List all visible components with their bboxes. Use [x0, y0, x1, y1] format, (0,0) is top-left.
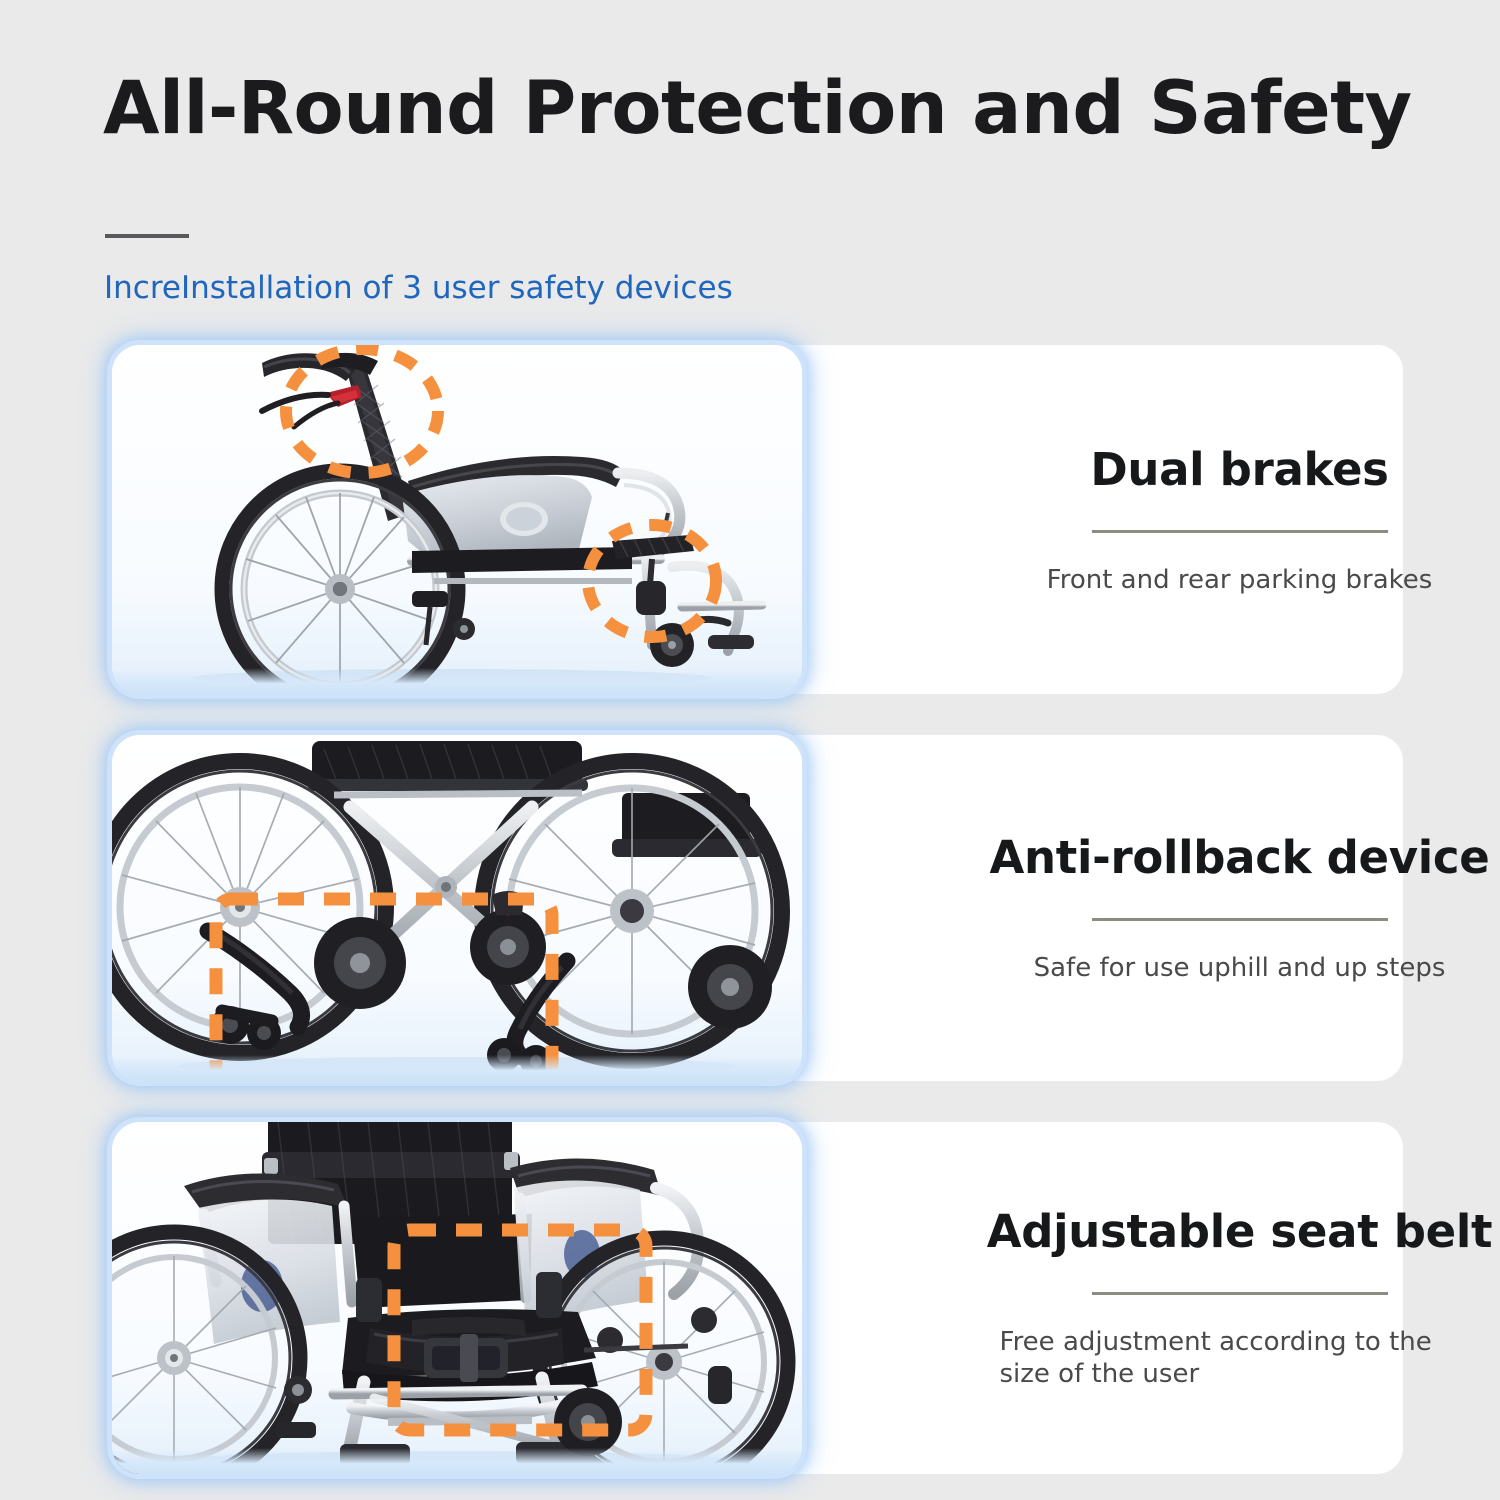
card-divider	[1092, 918, 1388, 921]
page-subtitle: IncreInstallation of 3 user safety devic…	[104, 270, 733, 306]
card-heading: Dual brakes	[1090, 443, 1388, 496]
card-description: Safe for use uphill and up steps	[1034, 953, 1446, 985]
wheelchair-wheels-closeup-illustration	[112, 735, 802, 1081]
feature-image-anti-rollback-device	[112, 735, 802, 1081]
card-divider	[1092, 530, 1388, 533]
card-text-block: Dual brakes Front and rear parking brake…	[939, 345, 1500, 694]
card-heading: Adjustable seat belt	[987, 1205, 1493, 1258]
infographic-page: All-Round Protection and Safety IncreIns…	[0, 0, 1500, 1500]
card-divider	[1092, 1292, 1388, 1295]
feature-image-dual-brakes	[112, 345, 802, 694]
card-text-block: Adjustable seat belt Free adjustment acc…	[939, 1122, 1500, 1474]
panel-floor-gradient	[112, 1448, 802, 1474]
panel-floor-gradient	[112, 668, 802, 694]
panel-floor-gradient	[112, 1055, 802, 1081]
wheelchair-front-view-illustration	[112, 1122, 802, 1474]
card-description: Free adjustment according to the size of…	[1000, 1327, 1480, 1390]
card-description: Front and rear parking brakes	[1047, 565, 1433, 597]
wheelchair-side-view-illustration	[112, 345, 802, 694]
page-title: All-Round Protection and Safety	[103, 66, 1412, 151]
card-text-block: Anti-rollback device Safe for use uphill…	[939, 735, 1500, 1081]
title-divider	[105, 234, 189, 238]
feature-image-adjustable-seat-belt	[112, 1122, 802, 1474]
card-heading: Anti-rollback device	[990, 831, 1490, 884]
